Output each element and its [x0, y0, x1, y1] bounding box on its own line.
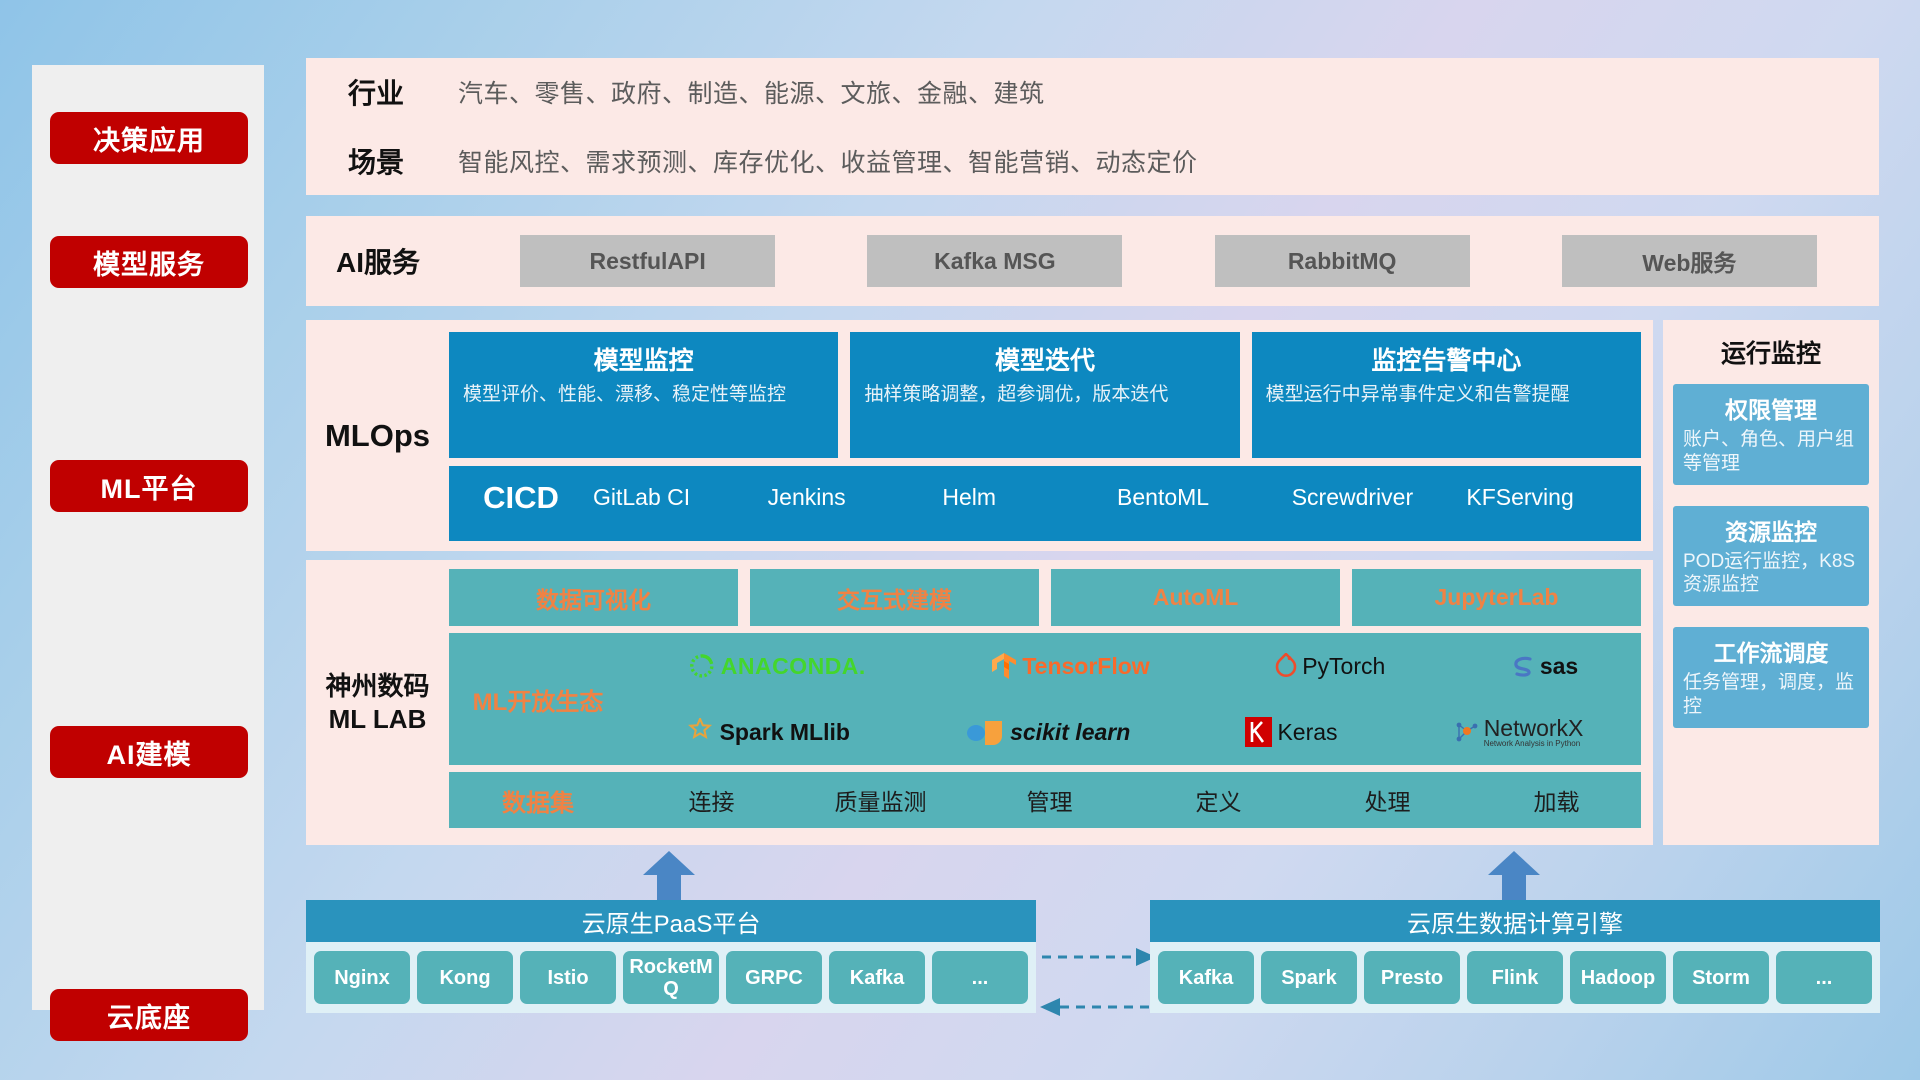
mlops-panel: MLOps 模型监控 模型评价、性能、漂移、稳定性等监控 模型迭代 抽样策略调整…: [306, 320, 1653, 551]
spark-mllib-label: Spark MLlib: [720, 719, 850, 746]
ecosystem-logo-row-1: ANACONDA. TensorFlow: [627, 633, 1641, 699]
card-desc: 抽样策略调整，超参调优，版本迭代: [864, 383, 1225, 408]
sas-label: sas: [1540, 653, 1578, 680]
monitor-card-permission-management[interactable]: 权限管理 账户、角色、用户组等管理: [1673, 384, 1869, 485]
cicd-bar: CICD GitLab CI Jenkins Helm BentoML Scre…: [449, 466, 1641, 541]
pytorch-label: PyTorch: [1302, 653, 1385, 680]
rail-chip-ai-modeling[interactable]: AI建模: [50, 726, 248, 778]
rail-chip-cloud-foundation[interactable]: 云底座: [50, 989, 248, 1041]
sas-icon: [1511, 654, 1535, 678]
industry-key: 行业: [306, 72, 458, 112]
ecosystem-logo-grid: ANACONDA. TensorFlow: [627, 633, 1641, 765]
ml-lab-label-line1: 神州数码: [325, 670, 429, 703]
rail-label: 模型服务: [93, 243, 205, 282]
industry-values: 汽车、零售、政府、制造、能源、文旅、金融、建筑: [458, 74, 1045, 110]
cicd-item-bentoml[interactable]: BentoML: [1117, 466, 1292, 510]
data-engine-chip-storm[interactable]: Storm: [1673, 951, 1769, 1004]
paas-chip-more[interactable]: ...: [932, 951, 1028, 1004]
ml-lab-tool-jupyterlab[interactable]: JupyterLab: [1352, 569, 1641, 626]
dataset-item-define[interactable]: 定义: [1134, 783, 1303, 817]
ai-service-label: AI服务: [306, 241, 458, 281]
cicd-item-screwdriver[interactable]: Screwdriver: [1292, 466, 1467, 510]
upward-arrow-data-engine-icon: [1488, 851, 1540, 901]
networkx-icon: [1453, 719, 1479, 745]
card-desc: 账户、角色、用户组等管理: [1683, 428, 1859, 476]
data-engine-chip-spark[interactable]: Spark: [1261, 951, 1357, 1004]
ai-service-box-list: RestfulAPI Kafka MSG RabbitMQ Web服务: [458, 235, 1879, 287]
cloud-native-paas-group: 云原生PaaS平台 Nginx Kong Istio RocketMQ GRPC…: [306, 900, 1036, 1013]
anaconda-label: ANACONDA.: [721, 653, 866, 680]
paas-chip-kong[interactable]: Kong: [417, 951, 513, 1004]
scenario-values: 智能风控、需求预测、库存优化、收益管理、智能营销、动态定价: [458, 143, 1198, 179]
scikit-learn-label: scikit learn: [1010, 719, 1130, 746]
anaconda-icon: [690, 653, 716, 679]
mlops-label: MLOps: [306, 320, 449, 551]
paas-header: 云原生PaaS平台: [306, 900, 1036, 942]
runtime-monitoring-title: 运行监控: [1673, 334, 1869, 370]
paas-chip-list: Nginx Kong Istio RocketMQ GRPC Kafka ...: [306, 942, 1036, 1013]
ml-lab-tool-list: 数据可视化 交互式建模 AutoML JupyterLab: [449, 569, 1641, 626]
scikit-learn-logo: scikit learn: [965, 718, 1130, 746]
spark-star-icon: [685, 718, 715, 746]
card-desc: POD运行监控，K8S资源监控: [1683, 550, 1859, 598]
runtime-monitoring-panel: 运行监控 权限管理 账户、角色、用户组等管理 资源监控 POD运行监控，K8S资…: [1663, 320, 1879, 845]
ecosystem-logo-row-2: Spark MLlib scikit learn: [627, 699, 1641, 765]
data-engine-chip-hadoop[interactable]: Hadoop: [1570, 951, 1666, 1004]
bidirectional-dashed-arrows: [1038, 935, 1158, 1035]
ml-lab-tool-automl[interactable]: AutoML: [1051, 569, 1340, 626]
dataset-item-process[interactable]: 处理: [1303, 783, 1472, 817]
upward-arrow-paas-icon: [643, 851, 695, 901]
pytorch-icon: [1275, 653, 1297, 679]
keras-icon: [1245, 717, 1272, 747]
mlops-card-model-iteration[interactable]: 模型迭代 抽样策略调整，超参调优，版本迭代: [850, 332, 1239, 458]
ai-service-box-rabbitmq[interactable]: RabbitMQ: [1215, 235, 1470, 287]
card-title: 资源监控: [1683, 513, 1859, 547]
networkx-label: NetworkX: [1484, 717, 1584, 740]
data-engine-header: 云原生数据计算引擎: [1150, 900, 1880, 942]
card-desc: 模型运行中异常事件定义和告警提醒: [1266, 383, 1627, 408]
ml-lab-tool-data-visualization[interactable]: 数据可视化: [449, 569, 738, 626]
paas-chip-grpc[interactable]: GRPC: [726, 951, 822, 1004]
data-engine-chip-more[interactable]: ...: [1776, 951, 1872, 1004]
keras-label: Keras: [1277, 719, 1337, 746]
tensorflow-icon: [991, 652, 1017, 680]
cicd-item-gitlab-ci[interactable]: GitLab CI: [593, 466, 768, 510]
monitor-card-resource-monitoring[interactable]: 资源监控 POD运行监控，K8S资源监控: [1673, 506, 1869, 607]
rail-chip-model-service[interactable]: 模型服务: [50, 236, 248, 288]
data-engine-chip-flink[interactable]: Flink: [1467, 951, 1563, 1004]
rail-chip-decision-apps[interactable]: 决策应用: [50, 112, 248, 164]
card-title: 权限管理: [1683, 391, 1859, 425]
dataset-band: 数据集 连接 质量监测 管理 定义 处理 加载: [449, 772, 1641, 828]
card-desc: 任务管理，调度，监控: [1683, 671, 1859, 719]
data-engine-chip-presto[interactable]: Presto: [1364, 951, 1460, 1004]
card-title: 工作流调度: [1683, 634, 1859, 668]
dataset-item-manage[interactable]: 管理: [965, 783, 1134, 817]
mlops-card-alert-center[interactable]: 监控告警中心 模型运行中异常事件定义和告警提醒: [1252, 332, 1641, 458]
mlops-card-model-monitoring[interactable]: 模型监控 模型评价、性能、漂移、稳定性等监控: [449, 332, 838, 458]
ai-service-panel: AI服务 RestfulAPI Kafka MSG RabbitMQ Web服务: [306, 216, 1879, 306]
ml-lab-tool-interactive-modeling[interactable]: 交互式建模: [750, 569, 1039, 626]
pytorch-logo: PyTorch: [1275, 653, 1385, 680]
rail-label: ML平台: [101, 467, 198, 506]
sas-logo: sas: [1511, 653, 1578, 680]
dashed-arrow-left-icon: [1040, 998, 1156, 1016]
rail-chip-ml-platform[interactable]: ML平台: [50, 460, 248, 512]
card-title: 监控告警中心: [1266, 341, 1627, 377]
dataset-item-quality-monitoring[interactable]: 质量监测: [796, 783, 965, 817]
dashed-arrow-right-icon: [1042, 948, 1156, 966]
cloud-native-data-engine-group: 云原生数据计算引擎 Kafka Spark Presto Flink Hadoo…: [1150, 900, 1880, 1013]
data-engine-chip-list: Kafka Spark Presto Flink Hadoop Storm ..…: [1150, 942, 1880, 1013]
ml-open-ecosystem-label: ML开放生态: [449, 682, 627, 717]
networkx-sublabel: Network Analysis in Python: [1484, 740, 1584, 748]
rail-label: AI建模: [107, 733, 192, 772]
keras-logo: Keras: [1245, 717, 1337, 747]
ai-service-box-web-service[interactable]: Web服务: [1562, 235, 1817, 287]
stack-layer-rail: 决策应用 模型服务 ML平台 AI建模 云底座: [32, 65, 264, 1010]
dataset-item-connect[interactable]: 连接: [627, 783, 796, 817]
ml-lab-label-line2: ML LAB: [329, 703, 427, 736]
paas-chip-istio[interactable]: Istio: [520, 951, 616, 1004]
tensorflow-label: TensorFlow: [1022, 653, 1149, 680]
ml-open-ecosystem-band: ML开放生态 ANACONDA.: [449, 633, 1641, 765]
cicd-item-jenkins[interactable]: Jenkins: [768, 466, 943, 510]
paas-chip-rocketmq[interactable]: RocketMQ: [623, 951, 719, 1004]
paas-chip-nginx[interactable]: Nginx: [314, 951, 410, 1004]
dataset-item-load[interactable]: 加载: [1472, 783, 1641, 817]
decision-apps-row-industry: 行业 汽车、零售、政府、制造、能源、文旅、金融、建筑: [306, 58, 1879, 127]
ml-lab-label: 神州数码 ML LAB: [306, 560, 449, 845]
scikit-learn-icon: [965, 718, 1005, 746]
cicd-item-helm[interactable]: Helm: [942, 466, 1117, 510]
rail-label: 决策应用: [93, 119, 205, 158]
spark-mllib-logo: Spark MLlib: [685, 718, 850, 746]
mlops-content: 模型监控 模型评价、性能、漂移、稳定性等监控 模型迭代 抽样策略调整，超参调优，…: [449, 320, 1653, 551]
ai-service-box-kafka-msg[interactable]: Kafka MSG: [867, 235, 1122, 287]
decision-apps-panel: 行业 汽车、零售、政府、制造、能源、文旅、金融、建筑 场景 智能风控、需求预测、…: [306, 58, 1879, 195]
cicd-item-kfserving[interactable]: KFServing: [1466, 466, 1641, 510]
networkx-logo: NetworkX Network Analysis in Python: [1453, 717, 1584, 748]
data-engine-chip-kafka[interactable]: Kafka: [1158, 951, 1254, 1004]
scenario-key: 场景: [306, 141, 458, 181]
ml-lab-content: 数据可视化 交互式建模 AutoML JupyterLab ML开放生态 ANA…: [449, 560, 1653, 845]
paas-chip-kafka[interactable]: Kafka: [829, 951, 925, 1004]
dataset-label: 数据集: [449, 783, 627, 818]
tensorflow-logo: TensorFlow: [991, 652, 1149, 680]
decision-apps-row-scenario: 场景 智能风控、需求预测、库存优化、收益管理、智能营销、动态定价: [306, 127, 1879, 196]
monitor-card-workflow-scheduling[interactable]: 工作流调度 任务管理，调度，监控: [1673, 627, 1869, 728]
card-title: 模型迭代: [864, 341, 1225, 377]
rail-label: 云底座: [107, 996, 191, 1035]
card-title: 模型监控: [463, 341, 824, 377]
cicd-title: CICD: [449, 466, 593, 516]
ml-lab-panel: 神州数码 ML LAB 数据可视化 交互式建模 AutoML JupyterLa…: [306, 560, 1653, 845]
ai-service-box-restfulapi[interactable]: RestfulAPI: [520, 235, 775, 287]
card-desc: 模型评价、性能、漂移、稳定性等监控: [463, 383, 824, 408]
anaconda-logo: ANACONDA.: [690, 653, 866, 680]
mlops-card-list: 模型监控 模型评价、性能、漂移、稳定性等监控 模型迭代 抽样策略调整，超参调优，…: [449, 332, 1641, 458]
